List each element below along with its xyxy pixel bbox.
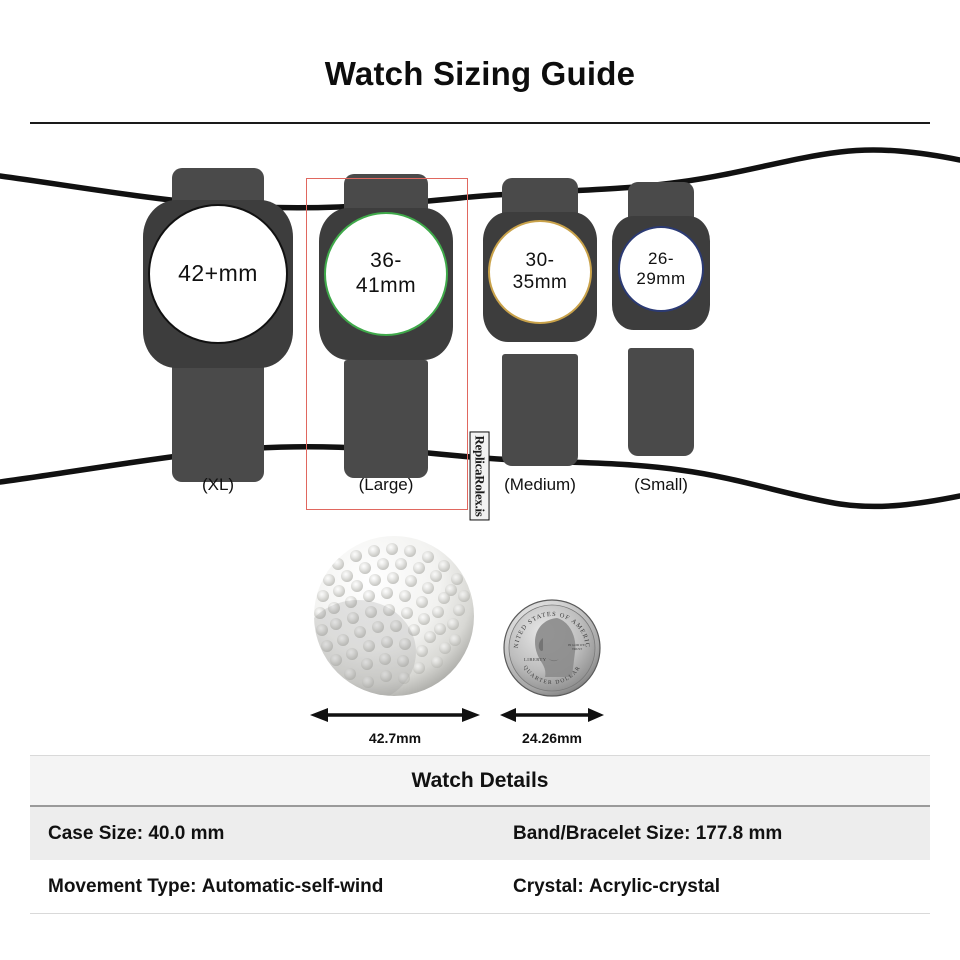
dimension-arrow-icon	[310, 706, 480, 724]
watch-strap-bottom	[502, 354, 578, 466]
page-title: Watch Sizing Guide	[325, 55, 635, 92]
dial-text-line1: 30-	[513, 250, 568, 272]
table-row: Case Size: 40.0 mm Band/Bracelet Size: 1…	[30, 807, 930, 860]
title-divider	[30, 122, 930, 124]
dial-text-line2: 35mm	[513, 272, 568, 294]
crystal-value: Acrylic-crystal	[589, 876, 720, 897]
band-size-value: 177.8 mm	[696, 823, 783, 844]
golf-ball-dimension-label: 42.7mm	[310, 730, 480, 746]
size-caption-text: (Small)	[634, 475, 688, 494]
band-size-cell: Band/Bracelet Size: 177.8 mm	[513, 823, 912, 845]
watch-strap-bottom	[172, 358, 264, 482]
case-size-cell: Case Size: 40.0 mm	[48, 823, 513, 845]
watch-option-xl[interactable]: 42+mm (XL)	[118, 130, 318, 530]
quarter-dimension-label: 24.26mm	[500, 730, 604, 746]
watch-option-large[interactable]: 36- 41mm (Large)	[291, 130, 481, 530]
size-caption-text: (Large)	[359, 475, 414, 494]
watch-dial: 42+mm	[148, 204, 288, 344]
watch-size-caption: (Small)	[561, 475, 761, 495]
band-size-label: Band/Bracelet Size:	[513, 823, 690, 844]
watch-dial-label: 30- 35mm	[513, 250, 568, 295]
watch-option-small[interactable]: 26- 29mm (Small)	[586, 130, 736, 530]
size-caption-text: (XL)	[202, 475, 234, 494]
crystal-cell: Crystal: Acrylic-crystal	[513, 876, 912, 898]
size-comparison-stage: 42.7mm	[0, 520, 960, 750]
dial-text-line2: 29mm	[636, 269, 685, 289]
dial-text-line1: 36-	[356, 249, 416, 274]
watch-dial: 30- 35mm	[488, 220, 592, 324]
dimension-arrow-icon	[500, 706, 604, 724]
watch-dial: 26- 29mm	[618, 226, 704, 312]
quarter-dimension: 24.26mm	[500, 706, 604, 746]
watch-sizing-guide-page: Watch Sizing Guide 42+mm (XL)	[0, 0, 960, 960]
dial-text-line1: 42+mm	[178, 260, 258, 287]
watch-details-header: Watch Details	[30, 756, 930, 807]
movement-type-value: Automatic-self-wind	[202, 876, 384, 897]
case-size-value: 40.0 mm	[148, 823, 224, 844]
movement-type-cell: Movement Type: Automatic-self-wind	[48, 876, 513, 898]
golf-ball-dimension: 42.7mm	[310, 706, 480, 746]
table-row: Movement Type: Automatic-self-wind Cryst…	[30, 860, 930, 913]
dial-text-line2: 41mm	[356, 274, 416, 299]
dial-text-line1: 26-	[636, 249, 685, 269]
svg-text:LIBERTY: LIBERTY	[524, 657, 547, 662]
watch-dial: 36- 41mm	[324, 212, 448, 336]
watermark-text: ReplicaRolex.is	[470, 431, 490, 520]
watch-dial-label: 26- 29mm	[636, 249, 685, 289]
case-size-label: Case Size:	[48, 823, 143, 844]
movement-type-label: Movement Type:	[48, 876, 197, 897]
page-title-block: Watch Sizing Guide	[0, 55, 960, 93]
svg-text:TRUST: TRUST	[572, 647, 582, 651]
watch-dial-label: 36- 41mm	[356, 249, 416, 299]
us-quarter-coin-icon: UNITED STATES OF AMERICA QUARTER DOLLAR …	[502, 598, 602, 698]
watch-strap-bottom	[628, 348, 694, 456]
site-watermark: ReplicaRolex.is	[469, 428, 491, 524]
watch-dial-label: 42+mm	[178, 260, 258, 287]
watch-details-table: Watch Details Case Size: 40.0 mm Band/Br…	[30, 755, 930, 914]
watch-strap-bottom	[344, 360, 428, 478]
golf-ball-icon	[312, 534, 477, 699]
crystal-label: Crystal:	[513, 876, 584, 897]
